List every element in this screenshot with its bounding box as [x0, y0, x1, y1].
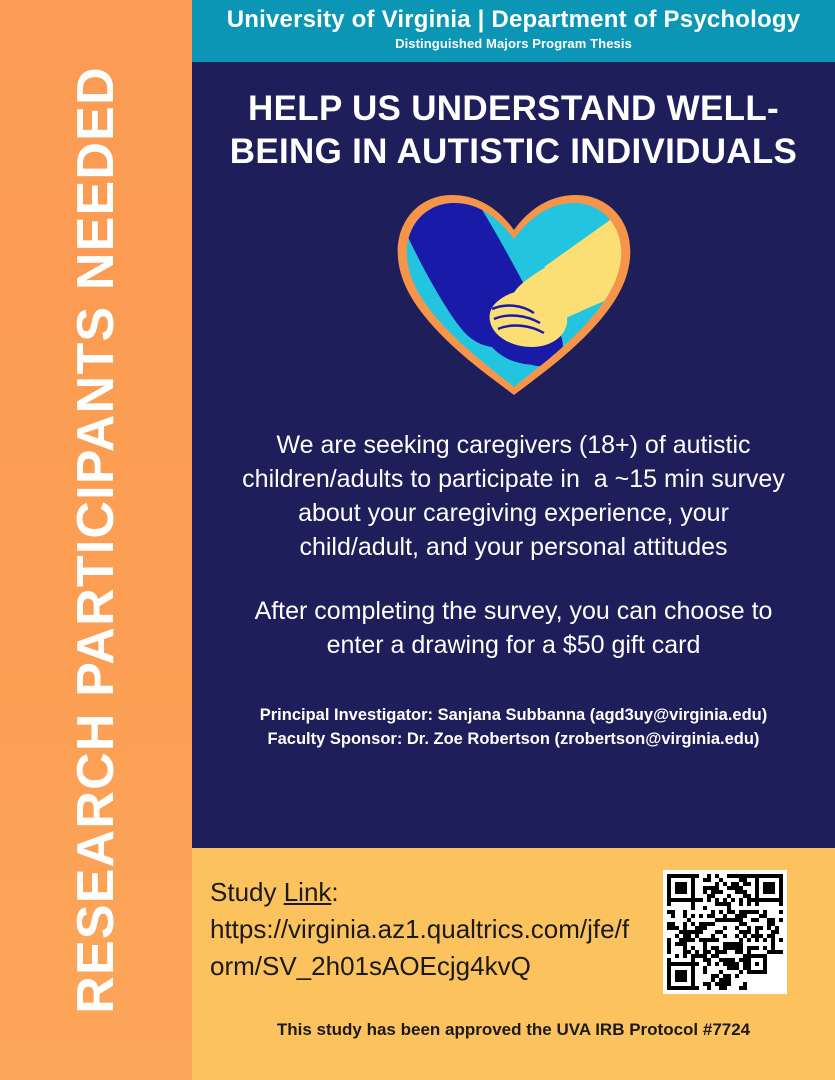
header-title: University of Virginia | Department of P… [192, 7, 835, 33]
sidebar-banner-text: RESEARCH PARTICIPANTS NEEDED [70, 66, 122, 1014]
qr-code[interactable] [663, 870, 787, 994]
poster-root: RESEARCH PARTICIPANTS NEEDED University … [0, 0, 835, 1080]
header-subtitle: Distinguished Majors Program Thesis [192, 36, 835, 52]
principal-investigator-line: Principal Investigator: Sanjana Subbanna… [222, 704, 805, 728]
contact-block: Principal Investigator: Sanjana Subbanna… [222, 704, 805, 752]
sidebar-banner: RESEARCH PARTICIPANTS NEEDED [0, 0, 192, 1080]
study-link-label-underlined: Link [284, 877, 332, 907]
header-bar: University of Virginia | Department of P… [192, 0, 835, 62]
clasped-hands-heart-icon [394, 189, 634, 401]
heart-graphic-container [192, 189, 835, 406]
study-url[interactable]: https://virginia.az1.qualtrics.com/jfe/f… [210, 911, 640, 985]
irb-statement: This study has been approved the UVA IRB… [192, 1020, 835, 1040]
study-link-label-prefix: Study [210, 877, 284, 907]
main-panel: HELP US UNDERSTAND WELL-BEING IN AUTISTI… [192, 62, 835, 848]
study-description: We are seeking caregivers (18+) of autis… [240, 428, 787, 564]
footer-panel: Study Link: https://virginia.az1.qualtri… [192, 848, 835, 1080]
qr-code-image [667, 874, 783, 990]
page-title: HELP US UNDERSTAND WELL-BEING IN AUTISTI… [222, 88, 805, 173]
incentive-description: After completing the survey, you can cho… [240, 594, 787, 662]
study-link-label-suffix: : [331, 877, 338, 907]
study-link-block[interactable]: Study Link: https://virginia.az1.qualtri… [210, 874, 640, 985]
faculty-sponsor-line: Faculty Sponsor: Dr. Zoe Robertson (zrob… [222, 728, 805, 752]
